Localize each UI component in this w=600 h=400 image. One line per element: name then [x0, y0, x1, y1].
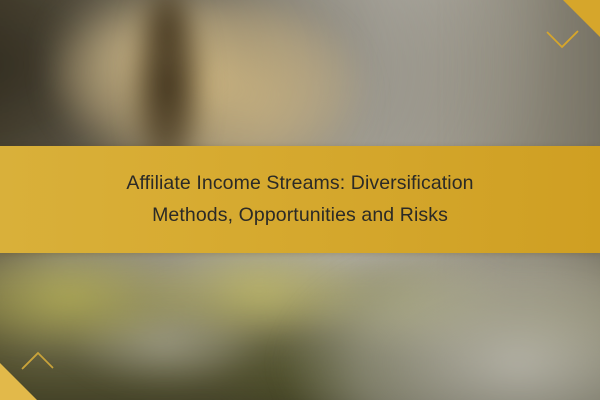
- outline-chevron-icon: [23, 353, 53, 368]
- outline-chevron-tail-icon: [22, 353, 38, 369]
- triangle-ornament-icon: [0, 326, 74, 400]
- filled-triangle-icon: [0, 363, 37, 400]
- corner-ornament-bottom-left: [0, 326, 74, 400]
- promo-banner-card: Affiliate Income Streams: Diversificatio…: [0, 0, 600, 400]
- title-banner-strip: Affiliate Income Streams: Diversificatio…: [0, 146, 600, 253]
- outline-chevron-tail-icon: [562, 31, 578, 47]
- page-title-line-2: Methods, Opportunities and Risks: [152, 204, 448, 226]
- filled-triangle-icon: [563, 0, 600, 37]
- triangle-ornament-icon: [526, 0, 600, 74]
- page-title: Affiliate Income Streams: Diversificatio…: [65, 168, 535, 231]
- page-title-line-1: Affiliate Income Streams: Diversificatio…: [126, 172, 473, 194]
- corner-ornament-top-right: [526, 0, 600, 74]
- outline-chevron-icon: [547, 32, 577, 47]
